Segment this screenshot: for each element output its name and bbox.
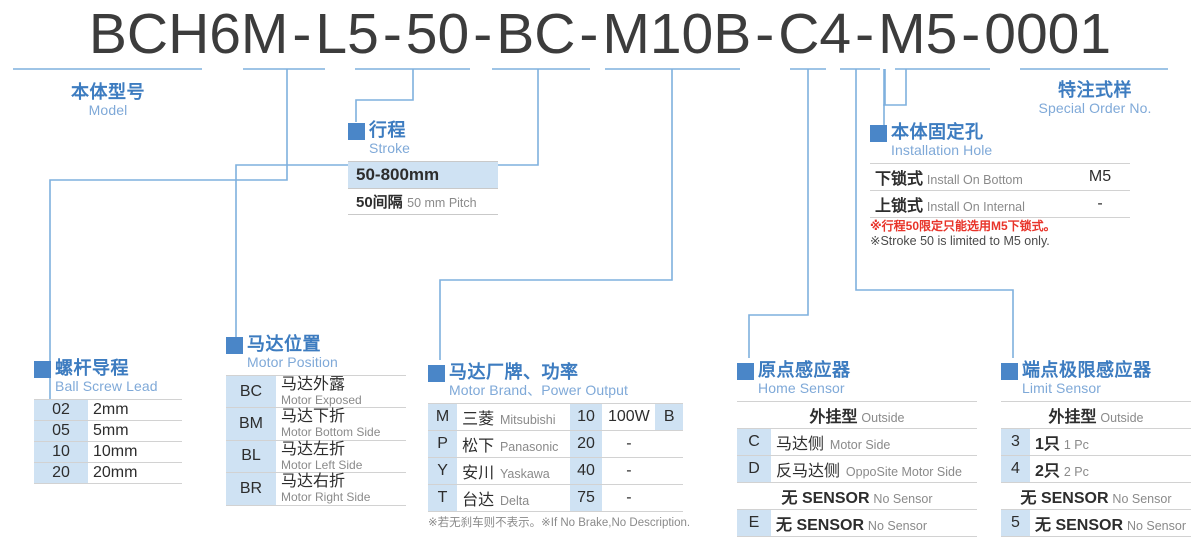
motor-position-table: BC 马达外露 Motor Exposed BM 马达下折 Motor Bott… <box>226 375 406 506</box>
install-bottom-label: 下锁式 Install On Bottom <box>870 164 1070 191</box>
home-sensor-code: C <box>737 429 771 456</box>
ball-screw-lead-title-cn: 螺杆导程 <box>55 358 129 378</box>
brand-name: 安川 Yaskawa <box>457 458 569 485</box>
product-code-diagram: BCH6M - L5 - 50 - BC - M10B - C4 - M5 - … <box>0 0 1200 549</box>
brake-code: B <box>655 404 683 431</box>
lead-code: 05 <box>34 421 88 442</box>
motor-position-cn: 马达下折 <box>281 409 401 426</box>
motor-brand-table: M 三菱 Mitsubishi 10 100W B P 松下 Panasonic… <box>428 403 683 512</box>
limit-sensor-en: 1 Pc <box>1064 438 1089 452</box>
motor-position-code: BL <box>226 440 276 472</box>
brake-code <box>655 431 683 458</box>
power-value: - <box>602 431 655 458</box>
table-banner-row: 无 SENSOR No Sensor <box>1001 483 1191 510</box>
home-sensor-en: No Sensor <box>868 519 927 533</box>
stroke-range[interactable]: 50-800mm <box>348 161 498 189</box>
brand-code: Y <box>428 458 457 485</box>
limit-sensor-en: 2 Pc <box>1064 465 1089 479</box>
model-title-cn: 本体型号 <box>48 82 168 102</box>
home-sensor-en: OppoSite Motor Side <box>846 465 962 479</box>
code-segment: C4 <box>777 1 852 67</box>
home-sensor-desc: 无 SENSOR No Sensor <box>771 510 977 537</box>
motor-position-title-cn: 马达位置 <box>247 334 321 354</box>
motor-position-en: Motor Right Side <box>281 491 401 504</box>
lead-code: 02 <box>34 400 88 421</box>
bullet-square-icon <box>870 125 887 142</box>
power-value: - <box>602 485 655 512</box>
table-row[interactable]: M 三菱 Mitsubishi 10 100W B <box>428 404 683 431</box>
brand-en: Delta <box>500 494 529 508</box>
code-separator: - <box>852 1 877 67</box>
limit-sensor-code: 3 <box>1001 429 1030 456</box>
limit-sensor-cn: 1只 <box>1035 436 1060 453</box>
code-separator: - <box>289 1 314 67</box>
power-value: - <box>602 458 655 485</box>
bullet-square-icon <box>428 365 445 382</box>
section-home-sensor: 原点感应器 Home Sensor 外挂型 Outside C 马达侧 Moto… <box>737 360 977 537</box>
bullet-square-icon <box>348 123 365 140</box>
section-stroke: 行程 Stroke 50-800mm 50间隔 50 mm Pitch <box>348 120 498 215</box>
home-sensor-desc: 反马达侧 OppoSite Motor Side <box>771 456 977 483</box>
table-row[interactable]: 3 1只 1 Pc <box>1001 429 1191 456</box>
install-internal-en: Install On Internal <box>927 200 1025 214</box>
brand-cn: 台达 <box>462 492 494 509</box>
brake-code <box>655 485 683 512</box>
stroke-pitch-en: 50 mm Pitch <box>407 196 476 210</box>
home-sensor-en: Motor Side <box>830 438 890 452</box>
table-banner-row: 外挂型 Outside <box>1001 402 1191 429</box>
brand-name: 松下 Panasonic <box>457 431 569 458</box>
limit-sensor-code: 5 <box>1001 510 1030 537</box>
brand-code: M <box>428 404 457 431</box>
motor-position-desc: 马达左折 Motor Left Side <box>276 440 406 472</box>
brake-code <box>655 458 683 485</box>
stroke-title-cn: 行程 <box>369 120 406 140</box>
table-row[interactable]: 05 5mm <box>34 421 182 442</box>
brand-code: P <box>428 431 457 458</box>
table-row[interactable]: 20 20mm <box>34 463 182 484</box>
install-internal-value: - <box>1070 191 1130 218</box>
home-sensor-title-cn: 原点感应器 <box>758 360 851 380</box>
lead-value: 2mm <box>88 400 182 421</box>
motor-position-en: Motor Exposed <box>281 394 401 407</box>
brand-code: T <box>428 485 457 512</box>
home-sensor-desc: 马达侧 Motor Side <box>771 429 977 456</box>
table-row[interactable]: 5 无 SENSOR No Sensor <box>1001 510 1191 537</box>
power-code: 75 <box>570 485 603 512</box>
table-row[interactable]: Y 安川 Yaskawa 40 - <box>428 458 683 485</box>
power-value: 100W <box>602 404 655 431</box>
motor-position-cn: 马达右折 <box>281 474 401 491</box>
section-model: 本体型号 Model <box>48 82 168 119</box>
limit-sensor-code: 4 <box>1001 456 1030 483</box>
table-row[interactable]: 下锁式 Install On Bottom M5 <box>870 164 1130 191</box>
motor-position-code: BM <box>226 408 276 440</box>
limit-sensor-banner-outside: 外挂型 Outside <box>1001 402 1191 429</box>
ball-screw-lead-table: 02 2mm 05 5mm 10 10mm 20 20mm <box>34 399 182 484</box>
limit-sensor-banner-nosensor: 无 SENSOR No Sensor <box>1001 483 1191 510</box>
model-title-en: Model <box>48 102 168 119</box>
motor-position-code: BC <box>226 376 276 408</box>
home-banner2-cn: 无 SENSOR <box>782 490 870 507</box>
lead-value: 10mm <box>88 442 182 463</box>
home-sensor-cn: 马达侧 <box>776 436 824 453</box>
table-row[interactable]: BC 马达外露 Motor Exposed <box>226 376 406 408</box>
limit-sensor-cn: 无 SENSOR <box>1035 517 1123 534</box>
limit-banner1-cn: 外挂型 <box>1049 409 1097 426</box>
install-internal-cn: 上锁式 <box>875 198 923 215</box>
installation-hole-table: 下锁式 Install On Bottom M5 上锁式 Install On … <box>870 163 1130 218</box>
table-row[interactable]: BM 马达下折 Motor Bottom Side <box>226 408 406 440</box>
table-row[interactable]: BL 马达左折 Motor Left Side <box>226 440 406 472</box>
stroke-title-en: Stroke <box>369 140 410 157</box>
code-segment: M10B <box>601 1 752 67</box>
home-sensor-code: E <box>737 510 771 537</box>
special-order-title-cn: 特注式样 <box>1012 80 1178 100</box>
section-special-order: 特注式样 Special Order No. <box>1012 80 1178 117</box>
lead-value: 5mm <box>88 421 182 442</box>
table-banner-row: 外挂型 Outside <box>737 402 977 429</box>
stroke-pitch-row: 50间隔 50 mm Pitch <box>348 189 498 215</box>
table-row[interactable]: BR 马达右折 Motor Right Side <box>226 473 406 505</box>
bullet-square-icon <box>737 363 754 380</box>
code-separator: - <box>470 1 495 67</box>
motor-position-cn: 马达外露 <box>281 377 401 394</box>
power-code: 10 <box>570 404 603 431</box>
code-segment: BCH6M <box>88 1 290 67</box>
motor-position-title-en: Motor Position <box>247 354 338 371</box>
table-row[interactable]: D 反马达侧 OppoSite Motor Side <box>737 456 977 483</box>
table-banner-row: 无 SENSOR No Sensor <box>737 483 977 510</box>
limit-sensor-desc: 无 SENSOR No Sensor <box>1030 510 1191 537</box>
brand-en: Mitsubishi <box>500 413 556 427</box>
lead-code: 10 <box>34 442 88 463</box>
limit-banner1-en: Outside <box>1100 411 1143 425</box>
code-separator: - <box>958 1 983 67</box>
section-motor-position: 马达位置 Motor Position BC 马达外露 Motor Expose… <box>226 334 406 506</box>
brand-cn: 安川 <box>462 465 494 482</box>
motor-position-en: Motor Bottom Side <box>281 426 401 439</box>
motor-brand-title-en: Motor Brand、Power Output <box>449 382 628 399</box>
install-bottom-cn: 下锁式 <box>875 171 923 188</box>
install-internal-label: 上锁式 Install On Internal <box>870 191 1070 218</box>
installation-hole-note: ※行程50限定只能选用M5下锁式。 ※Stroke 50 is limited … <box>870 220 1130 248</box>
table-row[interactable]: T 台达 Delta 75 - <box>428 485 683 512</box>
section-motor-brand: 马达厂牌、功率 Motor Brand、Power Output M 三菱 Mi… <box>428 362 690 530</box>
motor-position-cn: 马达左折 <box>281 442 401 459</box>
home-banner1-cn: 外挂型 <box>810 409 858 426</box>
brand-cn: 三菱 <box>462 411 494 428</box>
brand-en: Panasonic <box>500 440 558 454</box>
installation-hole-title-en: Installation Hole <box>891 142 992 159</box>
power-code: 20 <box>570 431 603 458</box>
code-segment: BC <box>495 1 576 67</box>
table-row[interactable]: 10 10mm <box>34 442 182 463</box>
motor-brand-title-cn: 马达厂牌、功率 <box>449 362 579 382</box>
special-order-title-en: Special Order No. <box>1012 100 1178 117</box>
motor-position-desc: 马达下折 Motor Bottom Side <box>276 408 406 440</box>
limit-sensor-table: 外挂型 Outside 3 1只 1 Pc 4 2只 2 Pc <box>1001 401 1191 537</box>
table-row[interactable]: C 马达侧 Motor Side <box>737 429 977 456</box>
section-installation-hole: 本体固定孔 Installation Hole 下锁式 Install On B… <box>870 122 1130 248</box>
installation-hole-title-cn: 本体固定孔 <box>891 122 984 142</box>
code-separator: - <box>380 1 405 67</box>
home-sensor-code: D <box>737 456 771 483</box>
code-segment: 0001 <box>983 1 1112 67</box>
home-sensor-banner-nosensor: 无 SENSOR No Sensor <box>737 483 977 510</box>
home-sensor-banner-outside: 外挂型 Outside <box>737 402 977 429</box>
bullet-square-icon <box>1001 363 1018 380</box>
brand-cn: 松下 <box>462 438 494 455</box>
section-limit-sensor: 端点极限感应器 Limit Sensor 外挂型 Outside 3 1只 1 … <box>1001 360 1191 537</box>
limit-sensor-desc: 2只 2 Pc <box>1030 456 1191 483</box>
ball-screw-lead-title-en: Ball Screw Lead <box>55 378 158 395</box>
code-segment: L5 <box>314 1 379 67</box>
motor-position-desc: 马达右折 Motor Right Side <box>276 473 406 505</box>
limit-sensor-en: No Sensor <box>1127 519 1186 533</box>
code-segment: M5 <box>877 1 958 67</box>
limit-banner2-cn: 无 SENSOR <box>1021 490 1109 507</box>
table-row[interactable]: 4 2只 2 Pc <box>1001 456 1191 483</box>
code-segment: 50 <box>405 1 470 67</box>
bullet-square-icon <box>226 337 243 354</box>
code-separator: - <box>576 1 601 67</box>
motor-brand-footnote: ※若无刹车则不表示。※If No Brake,No Description. <box>428 514 690 530</box>
table-row[interactable]: 02 2mm <box>34 400 182 421</box>
stroke-table: 50-800mm 50间隔 50 mm Pitch <box>348 161 498 215</box>
stroke-pitch-cn: 50间隔 <box>356 194 403 211</box>
limit-sensor-cn: 2只 <box>1035 463 1060 480</box>
limit-sensor-title-en: Limit Sensor <box>1022 380 1152 397</box>
bullet-square-icon <box>34 361 51 378</box>
motor-position-desc: 马达外露 Motor Exposed <box>276 376 406 408</box>
motor-position-code: BR <box>226 473 276 505</box>
table-row[interactable]: P 松下 Panasonic 20 - <box>428 431 683 458</box>
motor-position-en: Motor Left Side <box>281 459 401 472</box>
brand-en: Yaskawa <box>500 467 550 481</box>
code-separator: - <box>752 1 777 67</box>
lead-code: 20 <box>34 463 88 484</box>
power-code: 40 <box>570 458 603 485</box>
table-row[interactable]: 上锁式 Install On Internal - <box>870 191 1130 218</box>
home-sensor-title-en: Home Sensor <box>758 380 851 397</box>
install-note-cn: ※行程50限定只能选用M5下锁式。 <box>870 220 1130 234</box>
home-sensor-table: 外挂型 Outside C 马达侧 Motor Side D 反马达侧 Oppo… <box>737 401 977 537</box>
install-bottom-en: Install On Bottom <box>927 173 1023 187</box>
limit-sensor-desc: 1只 1 Pc <box>1030 429 1191 456</box>
brand-name: 台达 Delta <box>457 485 569 512</box>
section-ball-screw-lead: 螺杆导程 Ball Screw Lead 02 2mm 05 5mm 10 10… <box>34 358 182 484</box>
install-note-en: ※Stroke 50 is limited to M5 only. <box>870 234 1130 248</box>
table-row[interactable]: E 无 SENSOR No Sensor <box>737 510 977 537</box>
limit-banner2-en: No Sensor <box>1112 492 1171 506</box>
lead-value: 20mm <box>88 463 182 484</box>
home-banner2-en: No Sensor <box>873 492 932 506</box>
home-sensor-cn: 无 SENSOR <box>776 517 864 534</box>
brand-name: 三菱 Mitsubishi <box>457 404 569 431</box>
home-banner1-en: Outside <box>861 411 904 425</box>
home-sensor-cn: 反马达侧 <box>776 463 840 480</box>
limit-sensor-title-cn: 端点极限感应器 <box>1022 360 1152 380</box>
product-code-header: BCH6M - L5 - 50 - BC - M10B - C4 - M5 - … <box>0 4 1200 64</box>
install-bottom-value: M5 <box>1070 164 1130 191</box>
